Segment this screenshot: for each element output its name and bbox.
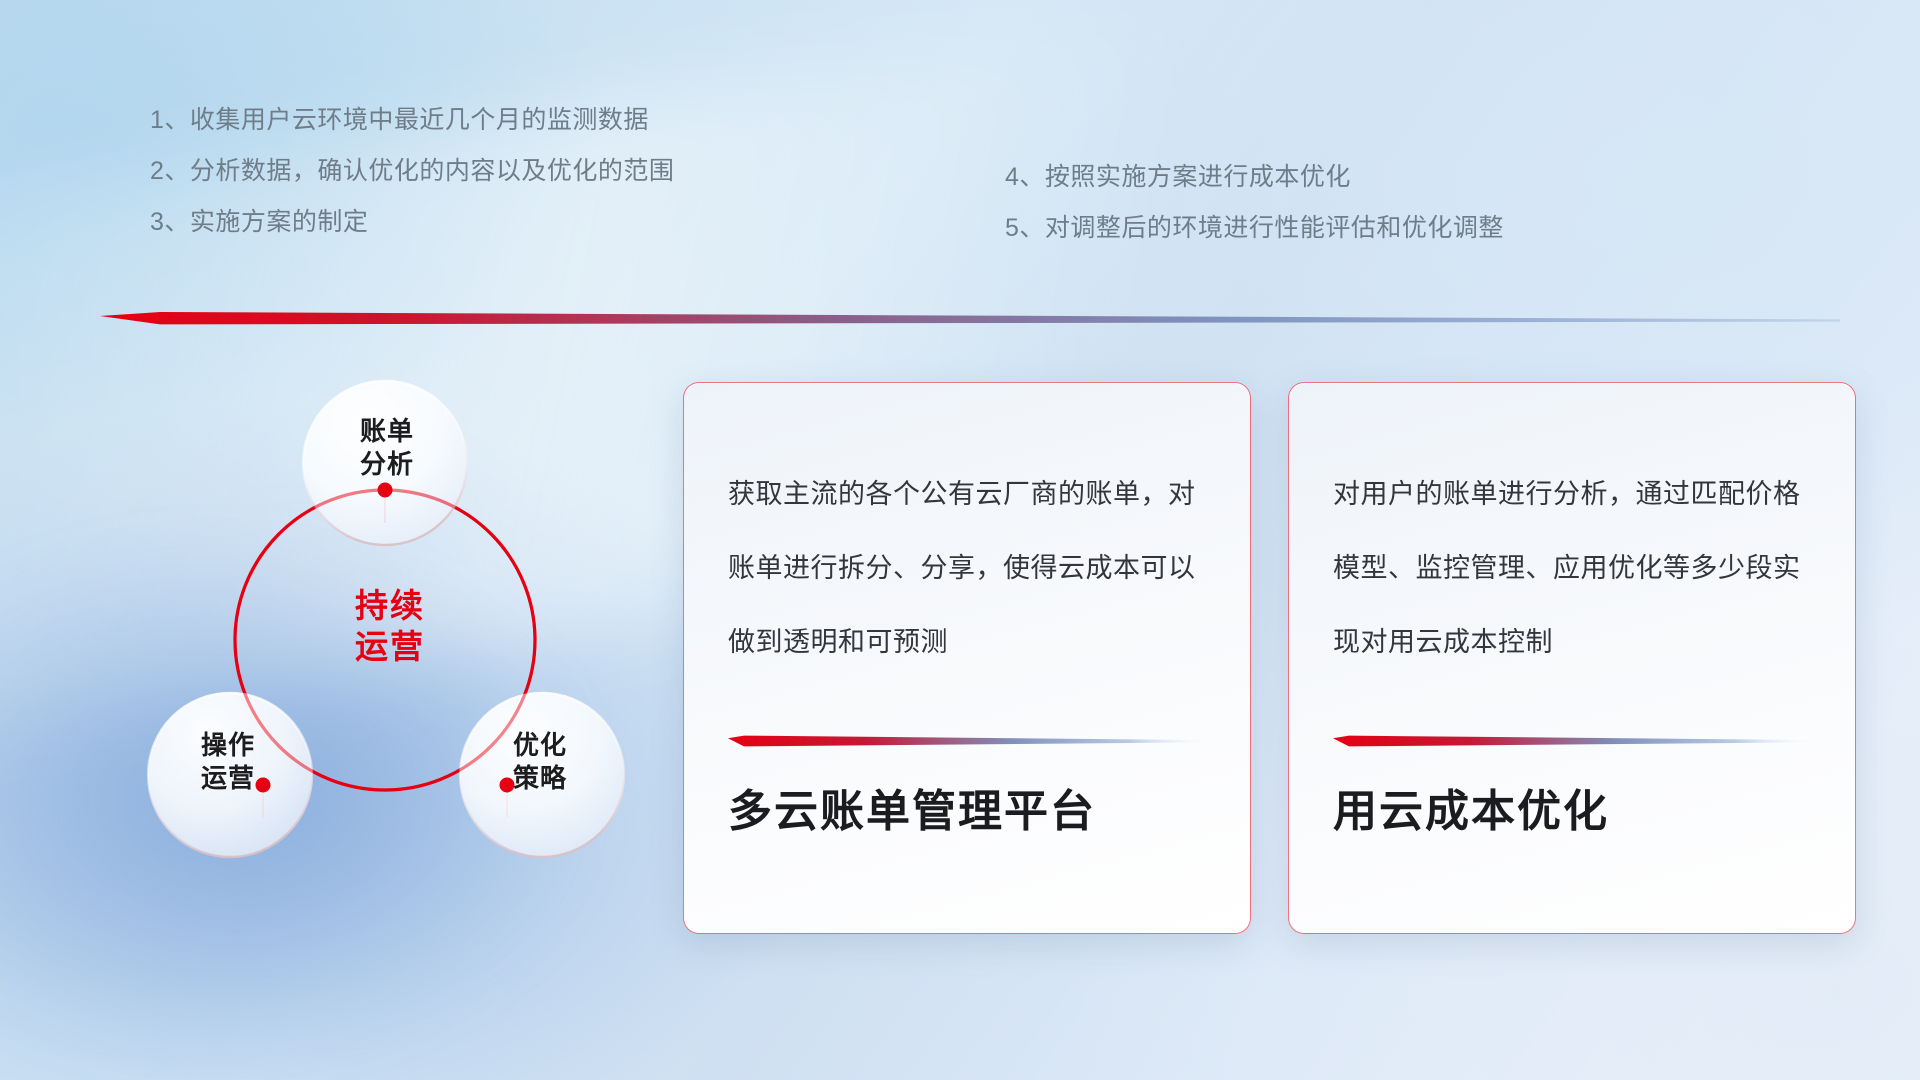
- venn-bubble-top: [303, 381, 467, 545]
- card-title: 用云成本优化: [1333, 775, 1825, 839]
- feature-card[interactable]: 对用户的账单进行分析，通过匹配价格模型、监控管理、应用优化等多少段实现对用云成本…: [1288, 382, 1856, 934]
- card-divider: [1333, 735, 1823, 747]
- steps-column-left: 1、收集用户云环境中最近几个月的监测数据 2、分析数据，确认优化的内容以及优化的…: [150, 95, 674, 248]
- venn-diagram: [95, 355, 655, 955]
- card-body-text: 获取主流的各个公有云厂商的账单，对账单进行拆分、分享，使得云成本可以做到透明和可…: [728, 457, 1218, 679]
- steps-column-right: 4、按照实施方案进行成本优化 5、对调整后的环境进行性能评估和优化调整: [1005, 152, 1504, 254]
- venn-dot-top: [378, 483, 393, 498]
- venn-dot-bottom-left: [256, 778, 271, 793]
- venn-bubble-bottom-right: [460, 693, 624, 857]
- step-item: 2、分析数据，确认优化的内容以及优化的范围: [150, 146, 674, 197]
- card-divider: [728, 735, 1218, 747]
- venn-dot-bottom-right: [500, 778, 515, 793]
- venn-bubble-bottom-left: [148, 693, 312, 857]
- slide-canvas: 1、收集用户云环境中最近几个月的监测数据 2、分析数据，确认优化的内容以及优化的…: [0, 0, 1920, 1080]
- card-title: 多云账单管理平台: [728, 775, 1220, 839]
- step-item: 3、实施方案的制定: [150, 197, 674, 248]
- section-divider: [100, 312, 1840, 326]
- feature-card[interactable]: 获取主流的各个公有云厂商的账单，对账单进行拆分、分享，使得云成本可以做到透明和可…: [683, 382, 1251, 934]
- step-item: 1、收集用户云环境中最近几个月的监测数据: [150, 95, 674, 146]
- step-item: 5、对调整后的环境进行性能评估和优化调整: [1005, 203, 1504, 254]
- card-body-text: 对用户的账单进行分析，通过匹配价格模型、监控管理、应用优化等多少段实现对用云成本…: [1333, 457, 1823, 679]
- step-item: 4、按照实施方案进行成本优化: [1005, 152, 1504, 203]
